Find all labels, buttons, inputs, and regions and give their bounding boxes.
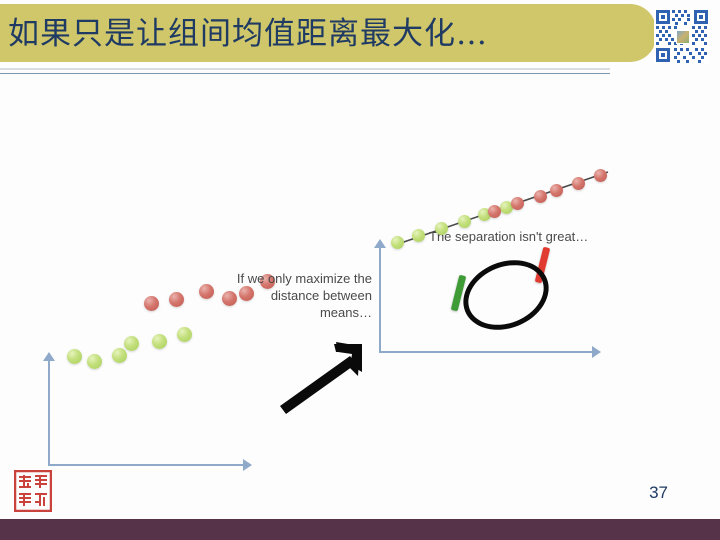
data-point-green xyxy=(124,336,139,351)
right-plot-x-axis-arrow xyxy=(592,346,601,358)
data-point-red xyxy=(199,284,214,299)
right-plot-y-axis-arrow xyxy=(374,239,386,248)
title-divider-top xyxy=(0,68,610,70)
data-point-green xyxy=(391,236,404,249)
data-point-green xyxy=(87,354,102,369)
caption-right: The separation isn't great… xyxy=(429,228,589,245)
data-point-red xyxy=(511,197,524,210)
data-point-green xyxy=(112,348,127,363)
data-point-red xyxy=(488,205,501,218)
page-number: 37 xyxy=(649,483,668,503)
qr-center-image xyxy=(676,30,690,44)
data-point-green xyxy=(152,334,167,349)
qr-code-icon[interactable] xyxy=(654,8,710,64)
data-point-green xyxy=(412,229,425,242)
data-point-red xyxy=(572,177,585,190)
data-point-green xyxy=(177,327,192,342)
caption-left: If we only maximize the distance between… xyxy=(222,270,372,321)
left-plot-x-axis xyxy=(48,464,245,466)
data-point-red xyxy=(534,190,547,203)
data-point-green xyxy=(435,222,448,235)
seal-stamp-icon xyxy=(14,470,52,512)
transform-arrow-icon xyxy=(270,324,380,414)
footer-bar xyxy=(0,519,720,540)
figure-area: If we only maximize the distance between… xyxy=(0,84,720,456)
data-point-red xyxy=(169,292,184,307)
data-point-red xyxy=(550,184,563,197)
left-plot-y-axis-arrow xyxy=(43,352,55,361)
data-point-red xyxy=(144,296,159,311)
page-title: 如果只是让组间均值距离最大化… xyxy=(8,11,628,57)
left-plot-x-axis-arrow xyxy=(243,459,252,471)
slide: 如果只是让组间均值距离最大化… xyxy=(0,0,720,540)
right-plot-y-axis xyxy=(379,247,381,353)
title-divider-bottom xyxy=(0,73,610,74)
left-plot-y-axis xyxy=(48,360,50,466)
data-point-green xyxy=(458,215,471,228)
right-plot-x-axis xyxy=(379,351,594,353)
data-point-green xyxy=(67,349,82,364)
data-point-red xyxy=(594,169,607,182)
